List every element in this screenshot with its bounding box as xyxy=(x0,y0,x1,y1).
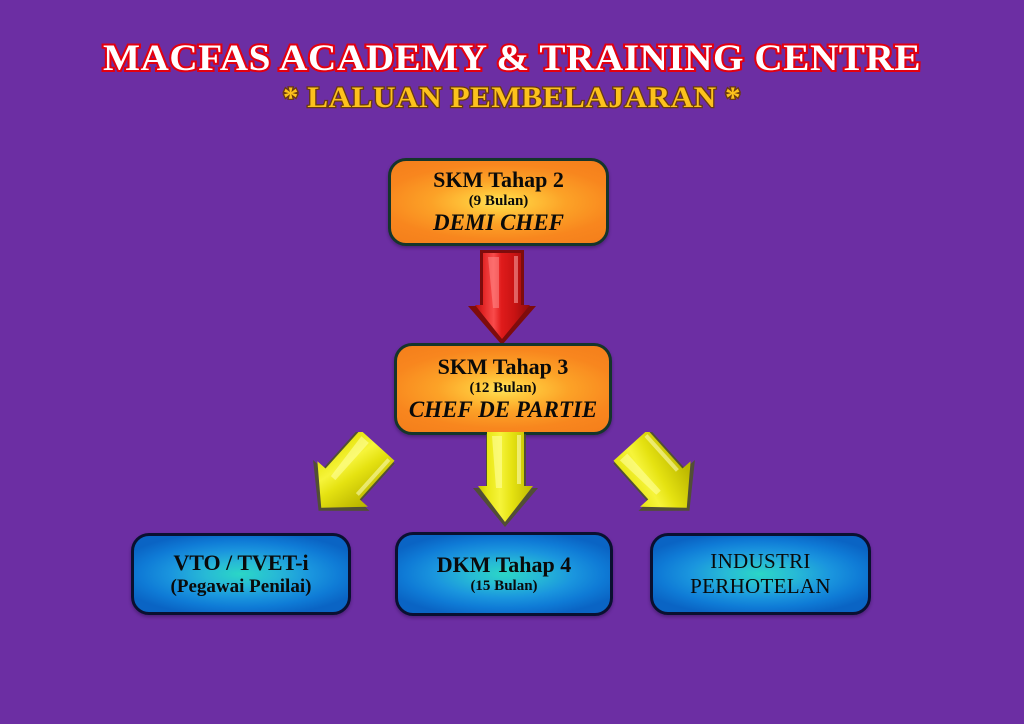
page-title: MACFAS ACADEMY & TRAINING CENTRE xyxy=(0,40,1024,78)
yellow-down-arrow-icon xyxy=(470,430,540,530)
node-vto-tvet-i[interactable]: VTO / TVET-i (Pegawai Penilai) xyxy=(131,533,351,615)
node-role: CHEF DE PARTIE xyxy=(409,397,597,423)
diagram-canvas: MACFAS ACADEMY & TRAINING CENTRE * LALUA… xyxy=(0,0,1024,724)
node-skm-tahap-2[interactable]: SKM Tahap 2 (9 Bulan) DEMI CHEF xyxy=(388,158,609,246)
node-title: VTO / TVET-i xyxy=(173,551,308,576)
yellow-down-right-arrow-icon xyxy=(608,432,712,524)
node-subtitle: (Pegawai Penilai) xyxy=(171,576,312,597)
node-skm-tahap-3[interactable]: SKM Tahap 3 (12 Bulan) CHEF DE PARTIE xyxy=(394,343,612,435)
node-role: DEMI CHEF xyxy=(433,210,564,236)
node-title: INDUSTRI xyxy=(710,549,810,574)
page-subtitle: * LALUAN PEMBELAJARAN * xyxy=(0,82,1024,114)
node-title-two: PERHOTELAN xyxy=(690,574,831,599)
node-title: SKM Tahap 3 xyxy=(438,355,569,380)
node-duration: (15 Bulan) xyxy=(470,578,537,595)
node-industri-perhotelan[interactable]: INDUSTRI PERHOTELAN xyxy=(650,533,871,615)
node-dkm-tahap-4[interactable]: DKM Tahap 4 (15 Bulan) xyxy=(395,532,613,616)
yellow-down-left-arrow-icon xyxy=(296,432,400,524)
node-duration: (12 Bulan) xyxy=(469,380,536,397)
header: MACFAS ACADEMY & TRAINING CENTRE * LALUA… xyxy=(0,40,1024,113)
red-down-arrow-icon xyxy=(466,248,538,348)
node-title: SKM Tahap 2 xyxy=(433,168,564,193)
node-title: DKM Tahap 4 xyxy=(437,553,572,578)
node-duration: (9 Bulan) xyxy=(469,193,529,210)
